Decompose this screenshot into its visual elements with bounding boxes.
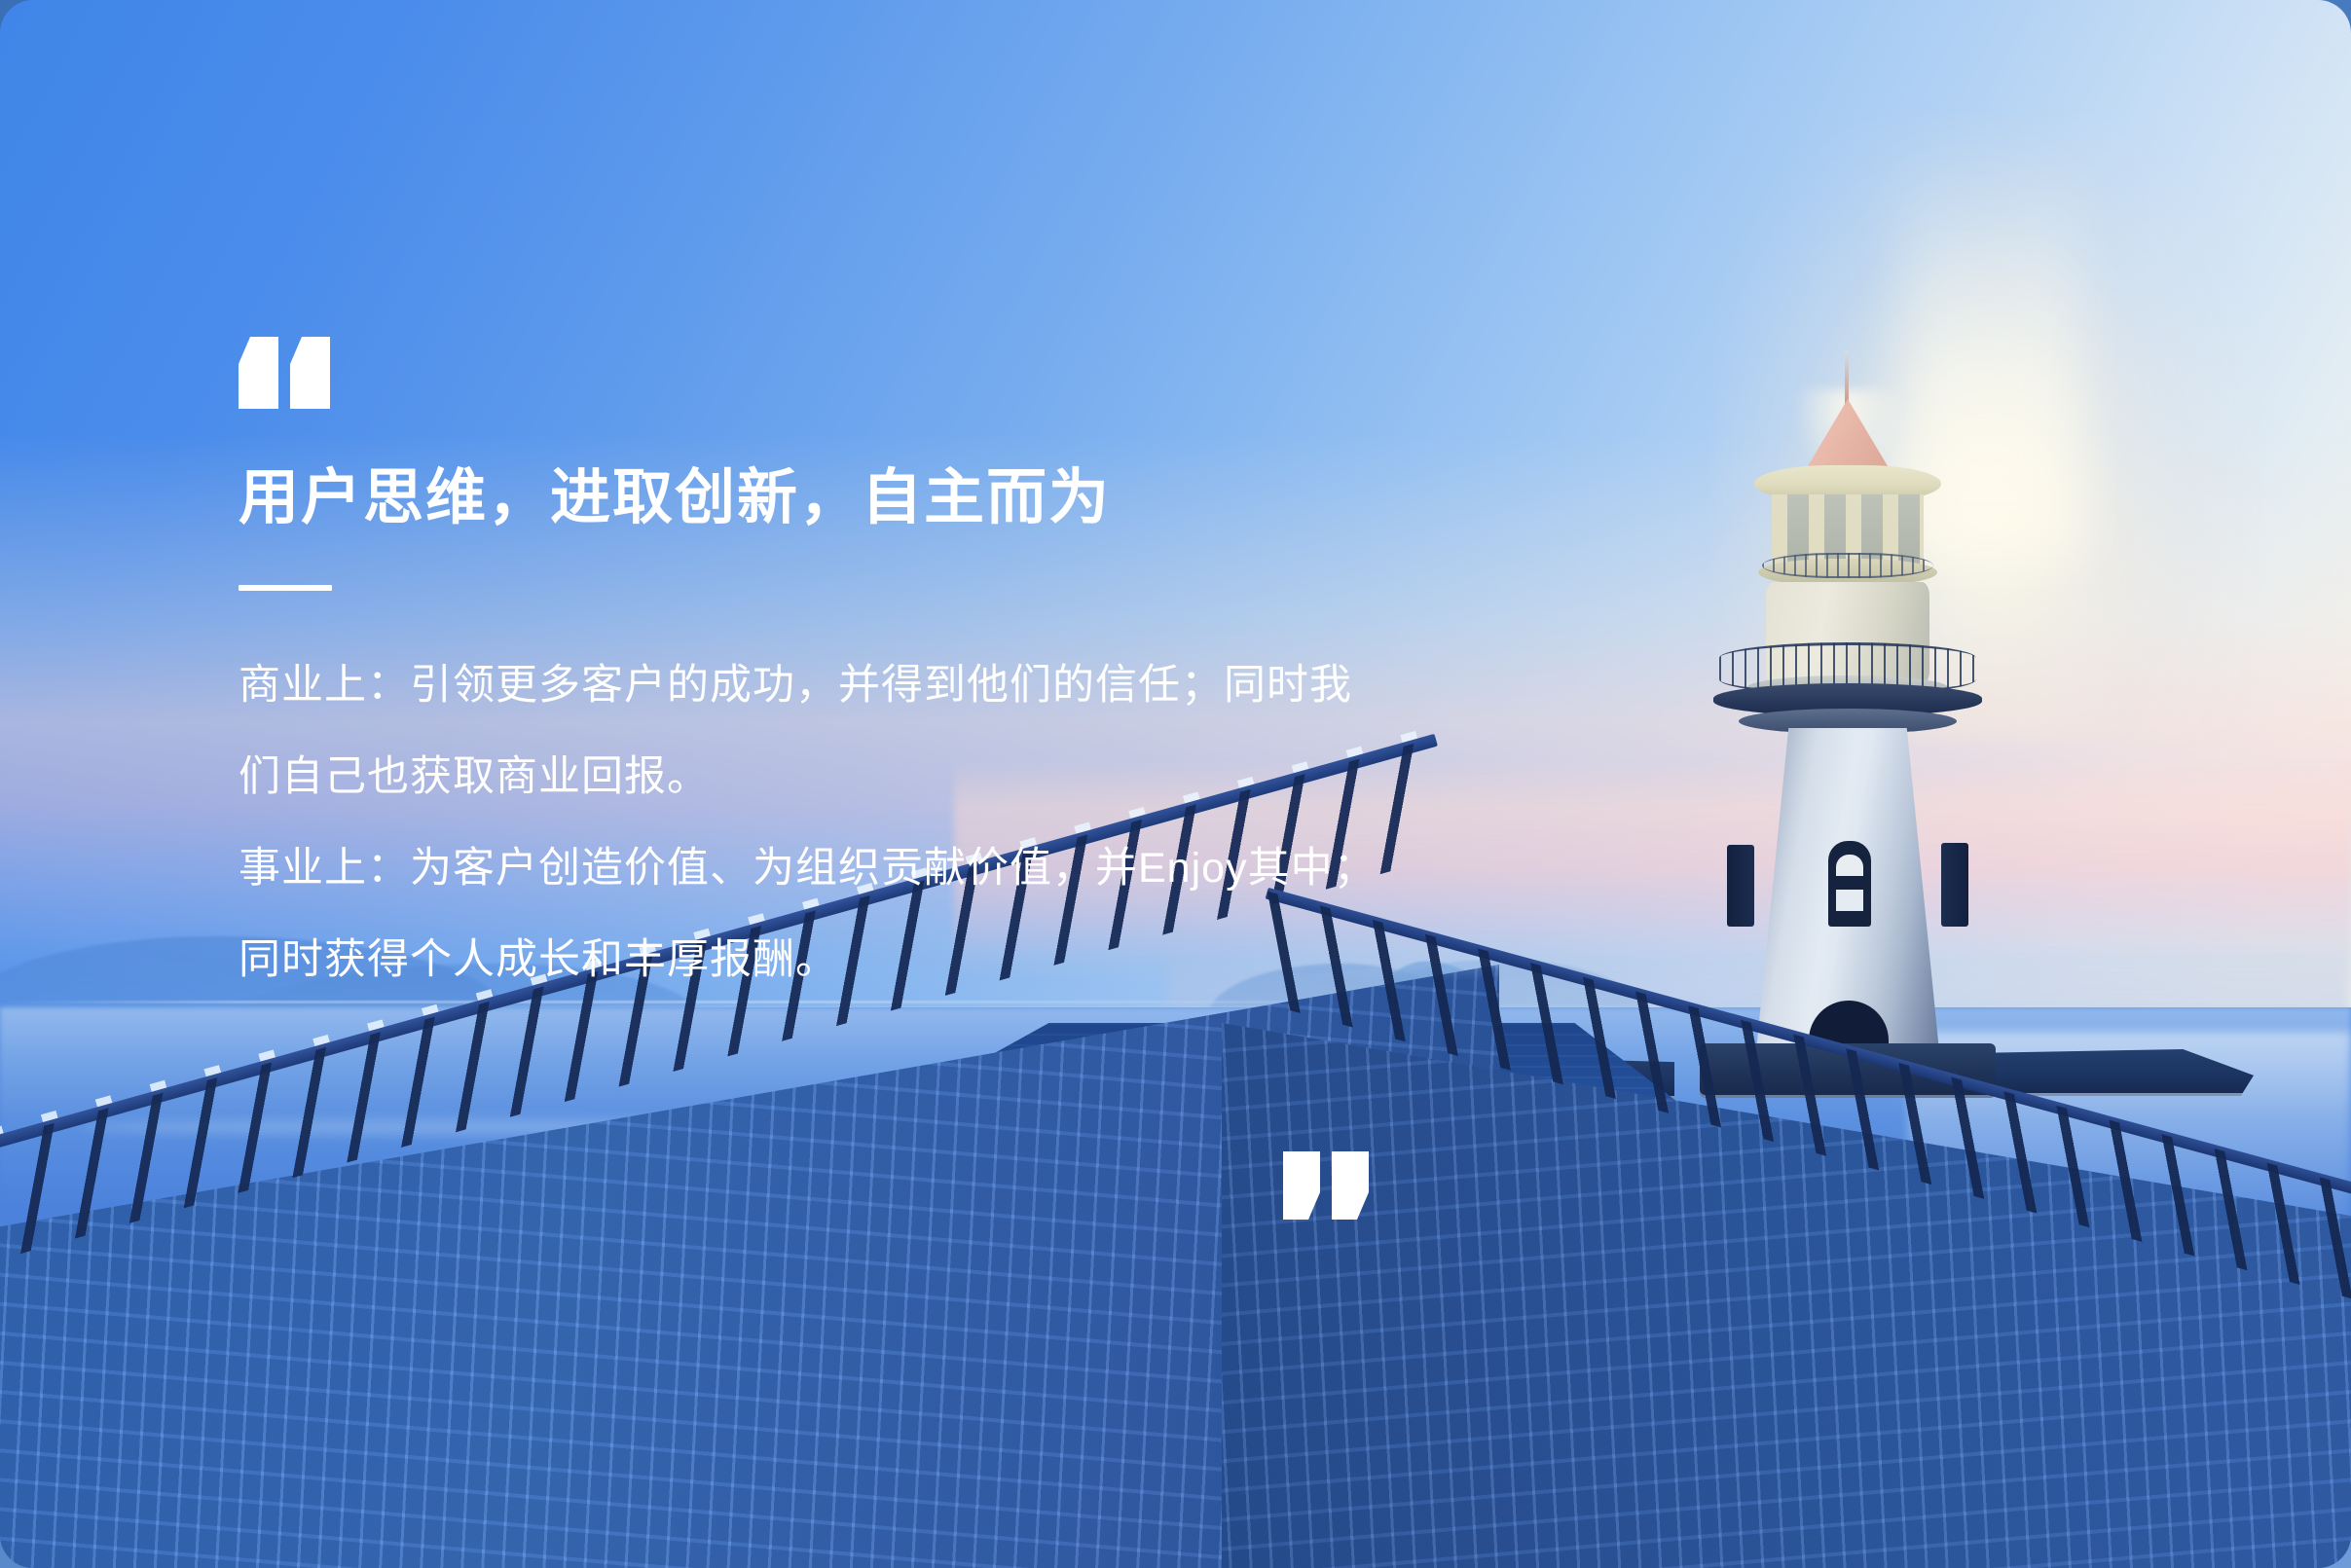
quote-banner-card: 用户思维，进取创新，自主而为 商业上：引领更多客户的成功，并得到他们的信任；同时… — [0, 0, 2351, 1568]
page-title: 用户思维，进取创新，自主而为 — [239, 463, 1407, 532]
text-overlay: 用户思维，进取创新，自主而为 商业上：引领更多客户的成功，并得到他们的信任；同时… — [0, 0, 2351, 1568]
open-quote-icon — [239, 337, 332, 409]
title-divider — [239, 585, 332, 591]
quote-paragraph-career: 事业上：为客户创造价值、为组织贡献价值，并Enjoy其中；同时获得个人成长和丰厚… — [239, 822, 1382, 1005]
quote-paragraph-business: 商业上：引领更多客户的成功，并得到他们的信任；同时我们自己也获取商业回报。 — [239, 639, 1382, 822]
quote-content: 用户思维，进取创新，自主而为 商业上：引领更多客户的成功，并得到他们的信任；同时… — [239, 337, 1407, 1005]
quote-body: 商业上：引领更多客户的成功，并得到他们的信任；同时我们自己也获取商业回报。 事业… — [239, 639, 1382, 1005]
close-quote-icon — [1283, 1151, 1371, 1220]
